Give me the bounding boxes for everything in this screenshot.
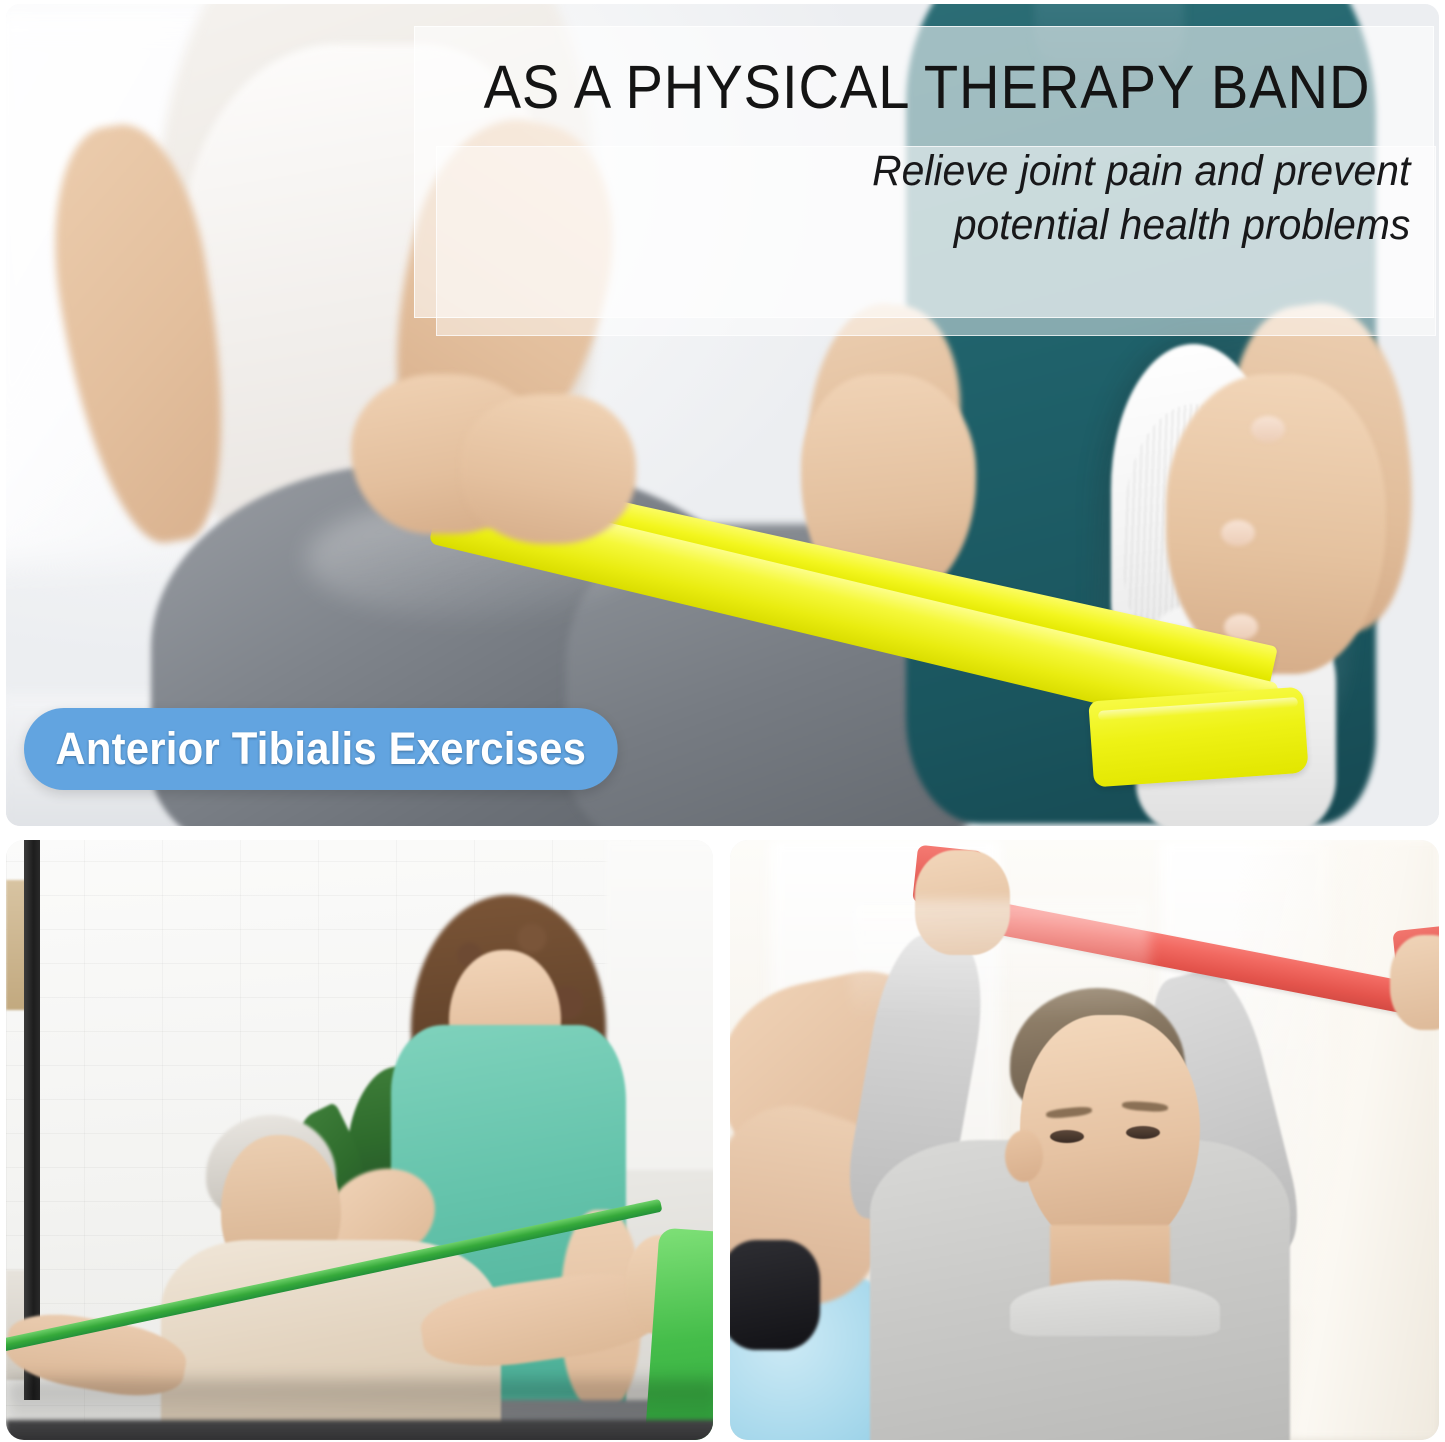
page-subtitle: Relieve joint pain and prevent potential…	[487, 144, 1416, 252]
caption-label-top: Anterior Tibialis Exercises	[56, 723, 587, 775]
scene-relieve-joint-pain	[730, 840, 1439, 1440]
scene-postoperative-rehab	[6, 840, 713, 1440]
panel-bottom-right: Relieve Joint Pain	[730, 840, 1439, 1440]
subtitle-line-1: Relieve joint pain and prevent	[487, 144, 1410, 198]
headline-block: AS A PHYSICAL THERAPY BAND Relieve joint…	[414, 26, 1434, 326]
panel-top: AS A PHYSICAL THERAPY BAND Relieve joint…	[6, 4, 1439, 826]
subtitle-line-2: potential health problems	[487, 198, 1410, 252]
page-title: AS A PHYSICAL THERAPY BAND	[477, 56, 1377, 118]
panel-bottom-left: Postoperative Rehabilitation	[6, 840, 713, 1440]
infographic-board: AS A PHYSICAL THERAPY BAND Relieve joint…	[0, 0, 1445, 1442]
caption-pill-anterior-tibialis: Anterior Tibialis Exercises	[24, 708, 618, 790]
